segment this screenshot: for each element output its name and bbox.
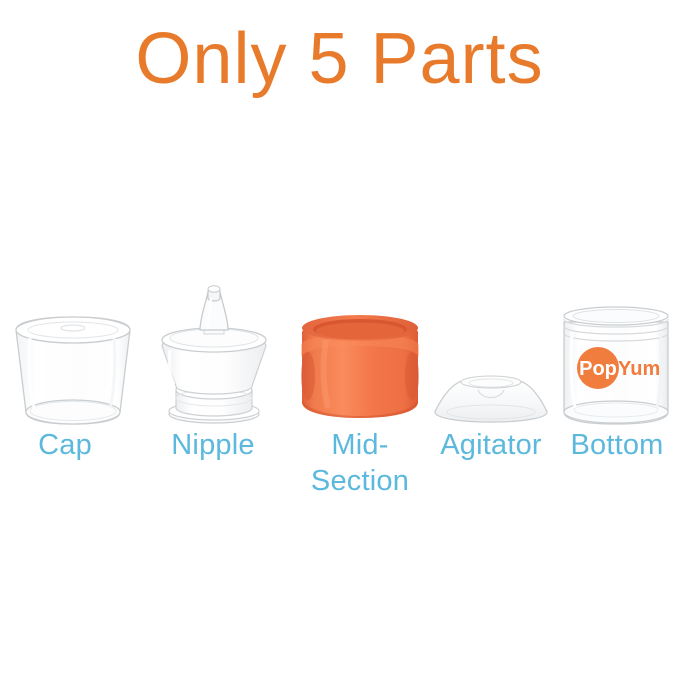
label-nipple-line1: Nipple [145,427,281,463]
logo-word-pop: Pop [579,358,617,380]
part-mid-section [296,268,424,428]
label-cap: Cap [2,427,128,463]
bottom-jar-illustration: Pop Yum [556,306,676,428]
label-mid-section-line2: Section [296,463,424,499]
label-mid-section: Mid- Section [296,427,424,500]
label-bottom: Bottom [556,427,678,463]
label-cap-line1: Cap [2,427,128,463]
label-bottom-line1: Bottom [556,427,678,463]
parts-row: Pop Yum [0,268,679,428]
cap-illustration [8,308,138,428]
mid-section-illustration [296,306,424,428]
label-agitator-line1: Agitator [424,427,558,463]
part-bottom: Pop Yum [556,268,676,428]
part-cap [8,268,138,428]
label-agitator: Agitator [424,427,558,463]
part-agitator [432,268,550,428]
logo-word-yum: Yum [618,358,660,380]
page-title: Only 5 Parts [0,22,679,98]
label-mid-section-line1: Mid- [296,427,424,463]
part-nipple [148,268,280,428]
product-parts-figure: Only 5 Parts [0,0,679,679]
labels-row: Cap Nipple Mid- Section Agitator Bottom [0,427,679,497]
agitator-illustration [432,370,550,428]
nipple-illustration [148,278,280,428]
label-nipple: Nipple [145,427,281,463]
